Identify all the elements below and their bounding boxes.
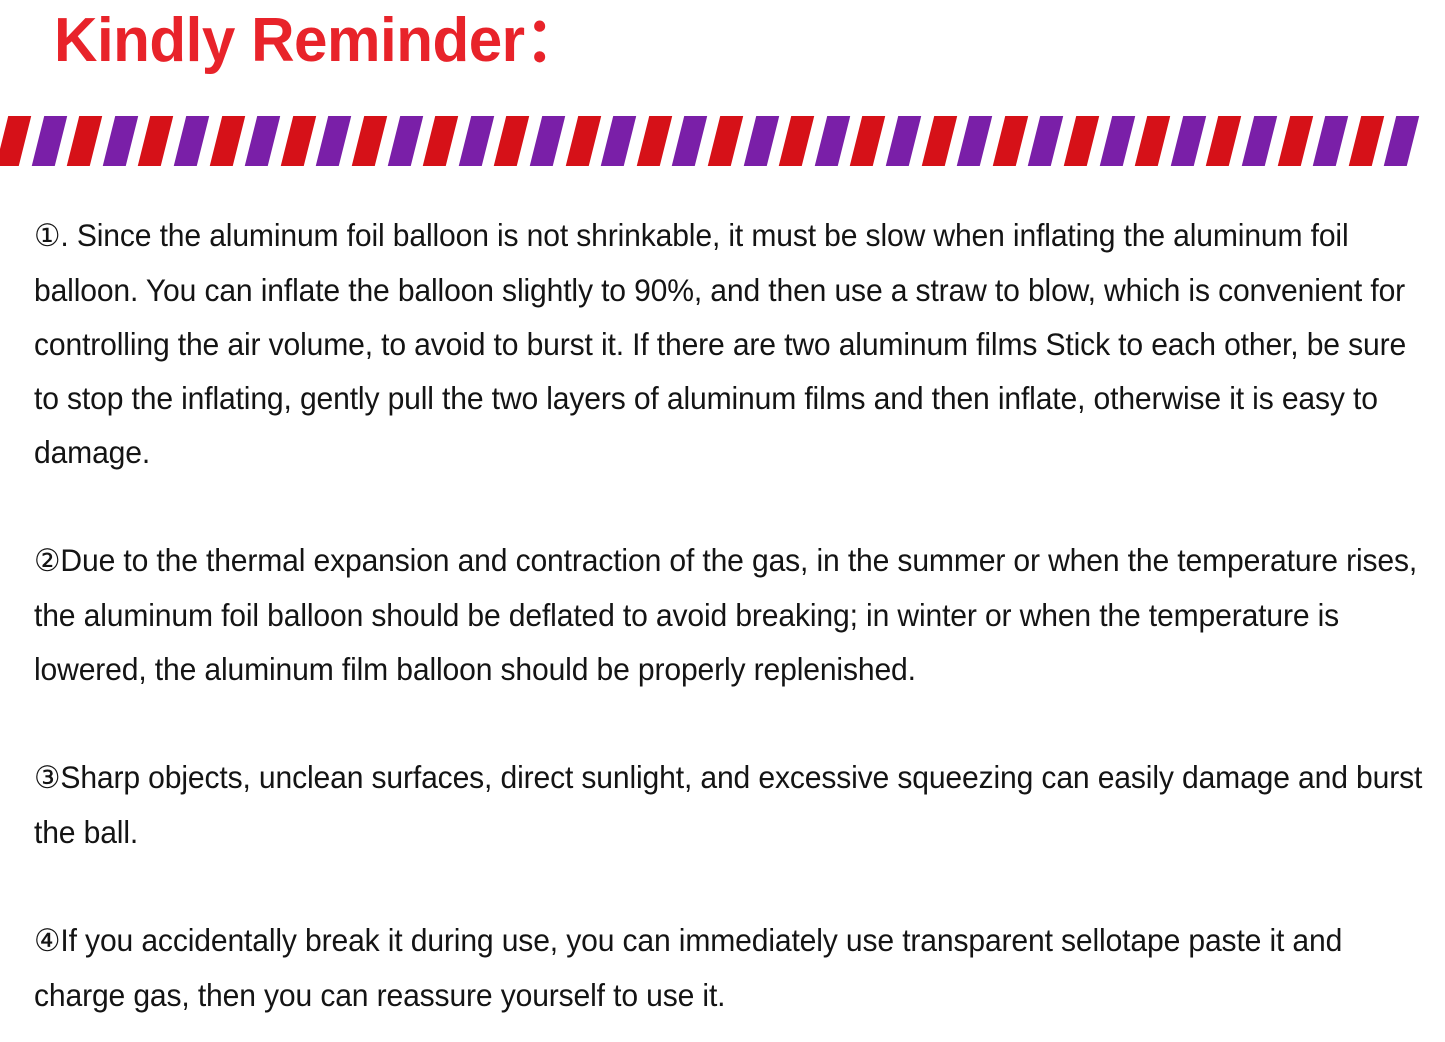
divider-stripe — [778, 116, 815, 166]
divider-stripe — [1276, 116, 1313, 166]
list-marker-2: ② — [34, 543, 60, 578]
divider-stripe — [1312, 116, 1349, 166]
list-text-3: Sharp objects, unclean surfaces, direct … — [34, 759, 1422, 850]
list-item: ②Due to the thermal expansion and contra… — [34, 533, 1434, 696]
divider-stripe — [1098, 116, 1135, 166]
divider-stripe — [1383, 116, 1420, 166]
divider-stripe — [529, 116, 566, 166]
divider-stripe — [208, 116, 245, 166]
striped-divider — [0, 116, 1445, 166]
divider-stripe — [564, 116, 601, 166]
list-text-4: If you accidentally break it during use,… — [34, 922, 1342, 1013]
divider-stripe — [66, 116, 103, 166]
divider-stripe — [992, 116, 1029, 166]
divider-stripe — [137, 116, 174, 166]
list-marker-4: ④ — [34, 923, 60, 958]
divider-stripe — [1241, 116, 1278, 166]
divider-stripe — [885, 116, 922, 166]
divider-stripe — [814, 116, 851, 166]
divider-stripe — [315, 116, 352, 166]
divider-stripe — [351, 116, 388, 166]
divider-stripe — [849, 116, 886, 166]
list-item: ③Sharp objects, unclean surfaces, direct… — [34, 750, 1434, 859]
divider-stripe — [102, 116, 139, 166]
divider-stripe — [1205, 116, 1242, 166]
divider-stripe — [600, 116, 637, 166]
divider-stripe — [493, 116, 530, 166]
divider-stripe — [244, 116, 281, 166]
divider-stripe — [636, 116, 673, 166]
divider-stripe — [671, 116, 708, 166]
divider-stripe — [458, 116, 495, 166]
divider-stripe — [422, 116, 459, 166]
divider-stripe — [742, 116, 779, 166]
divider-stripe — [386, 116, 423, 166]
divider-stripe — [1134, 116, 1171, 166]
list-item: ④If you accidentally break it during use… — [34, 913, 1434, 1022]
page-title: Kindly Reminder： — [54, 2, 584, 80]
divider-stripe — [0, 116, 32, 166]
list-marker-3: ③ — [34, 760, 60, 795]
divider-stripe — [1170, 116, 1207, 166]
divider-stripe — [1063, 116, 1100, 166]
divider-stripe — [30, 116, 67, 166]
list-marker-1: ① — [34, 218, 60, 253]
list-text-2: Due to the thermal expansion and contrac… — [34, 542, 1417, 687]
divider-stripe — [1348, 116, 1385, 166]
divider-stripe — [707, 116, 744, 166]
divider-stripe — [280, 116, 317, 166]
reminder-page: Kindly Reminder： ①. Since the aluminum f… — [0, 0, 1445, 1042]
list-text-1: . Since the aluminum foil balloon is not… — [34, 217, 1406, 470]
list-item: ①. Since the aluminum foil balloon is no… — [34, 208, 1434, 479]
divider-stripe — [956, 116, 993, 166]
reminder-notes-list: ①. Since the aluminum foil balloon is no… — [34, 208, 1434, 1022]
divider-stripe — [1027, 116, 1064, 166]
divider-stripe — [920, 116, 957, 166]
divider-stripe — [173, 116, 210, 166]
